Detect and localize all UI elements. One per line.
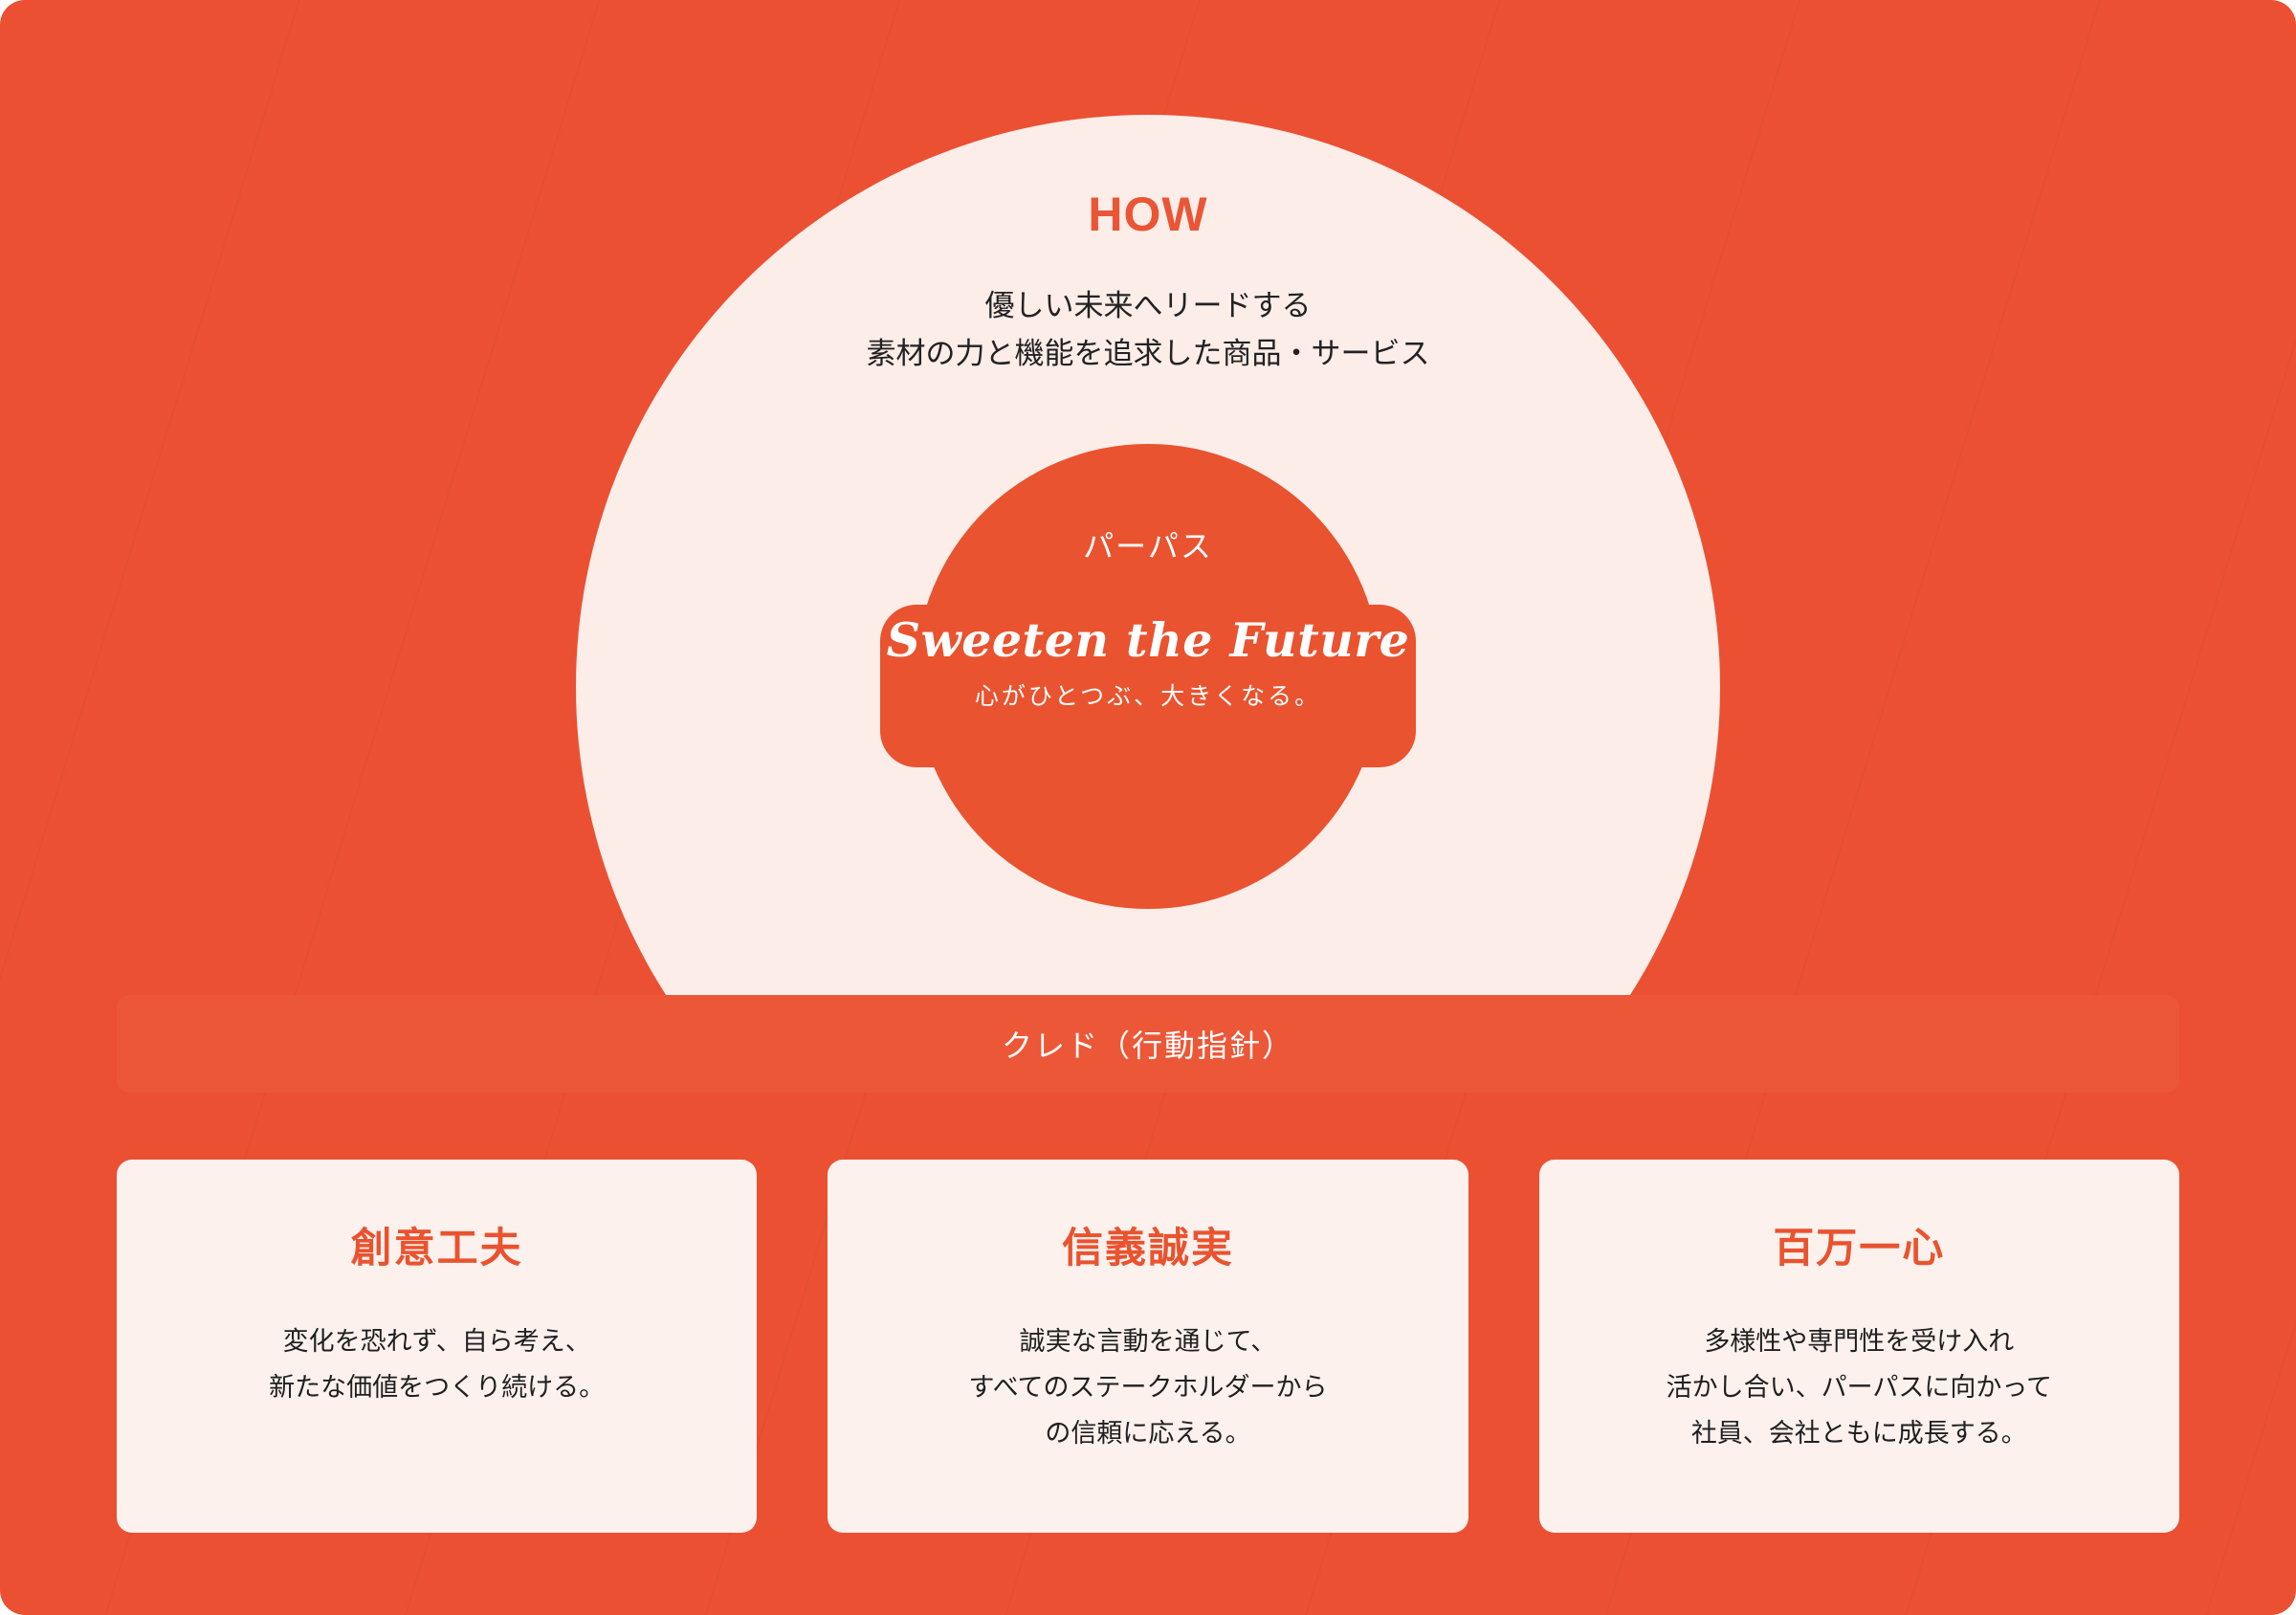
credo-card-2-body-line-3: の信頼に応える。 xyxy=(850,1410,1445,1456)
how-subtitle-line-1: 優しい未来へリードする xyxy=(0,282,2296,330)
how-title: HOW xyxy=(0,187,2296,242)
credo-card-2-title: 信義誠実 xyxy=(850,1215,1445,1274)
credo-card-3-body-line-1: 多様性や専門性を受け入れ xyxy=(1562,1318,2156,1364)
credo-bar: クレド（行動指針） xyxy=(117,995,2179,1093)
credo-card-list: 創意工夫 変化を恐れず、自ら考え、 新たな価値をつくり続ける。 信義誠実 誠実な… xyxy=(117,1160,2179,1533)
credo-card-3-body-line-3: 社員、会社ともに成長する。 xyxy=(1562,1410,2156,1456)
credo-card-2: 信義誠実 誠実な言動を通じて、 すべてのステークホルダーから の信頼に応える。 xyxy=(828,1160,1468,1533)
credo-card-2-body-line-2: すべてのステークホルダーから xyxy=(850,1364,1445,1410)
credo-card-1-title: 創意工夫 xyxy=(140,1215,734,1274)
how-subtitle-line-2: 素材の力と機能を追求した商品・サービス xyxy=(0,330,2296,378)
credo-card-3-body-line-2: 活かし合い、パーパスに向かって xyxy=(1562,1364,2156,1410)
purpose-credo-diagram: HOW 優しい未来へリードする 素材の力と機能を追求した商品・サービス パーパス… xyxy=(0,0,2296,1615)
credo-label: クレド（行動指針） xyxy=(1002,1022,1294,1066)
credo-card-3-title: 百万一心 xyxy=(1562,1215,2156,1274)
credo-card-1-body-line-1: 変化を恐れず、自ら考え、 xyxy=(140,1318,734,1364)
credo-card-1-body-line-2: 新たな価値をつくり続ける。 xyxy=(140,1364,734,1410)
credo-card-3: 百万一心 多様性や専門性を受け入れ 活かし合い、パーパスに向かって 社員、会社と… xyxy=(1539,1160,2179,1533)
how-section: HOW 優しい未来へリードする 素材の力と機能を追求した商品・サービス パーパス… xyxy=(0,0,2296,995)
credo-card-2-body: 誠実な言動を通じて、 すべてのステークホルダーから の信頼に応える。 xyxy=(850,1318,1445,1456)
credo-card-2-body-line-1: 誠実な言動を通じて、 xyxy=(850,1318,1445,1364)
credo-card-1: 創意工夫 変化を恐れず、自ら考え、 新たな価値をつくり続ける。 xyxy=(117,1160,757,1533)
credo-card-1-body: 変化を恐れず、自ら考え、 新たな価値をつくり続ける。 xyxy=(140,1318,734,1410)
how-subtitle: 優しい未来へリードする 素材の力と機能を追求した商品・サービス xyxy=(0,282,2296,378)
how-dome-shape xyxy=(576,115,1720,995)
credo-card-3-body: 多様性や専門性を受け入れ 活かし合い、パーパスに向かって 社員、会社ともに成長す… xyxy=(1562,1318,2156,1456)
